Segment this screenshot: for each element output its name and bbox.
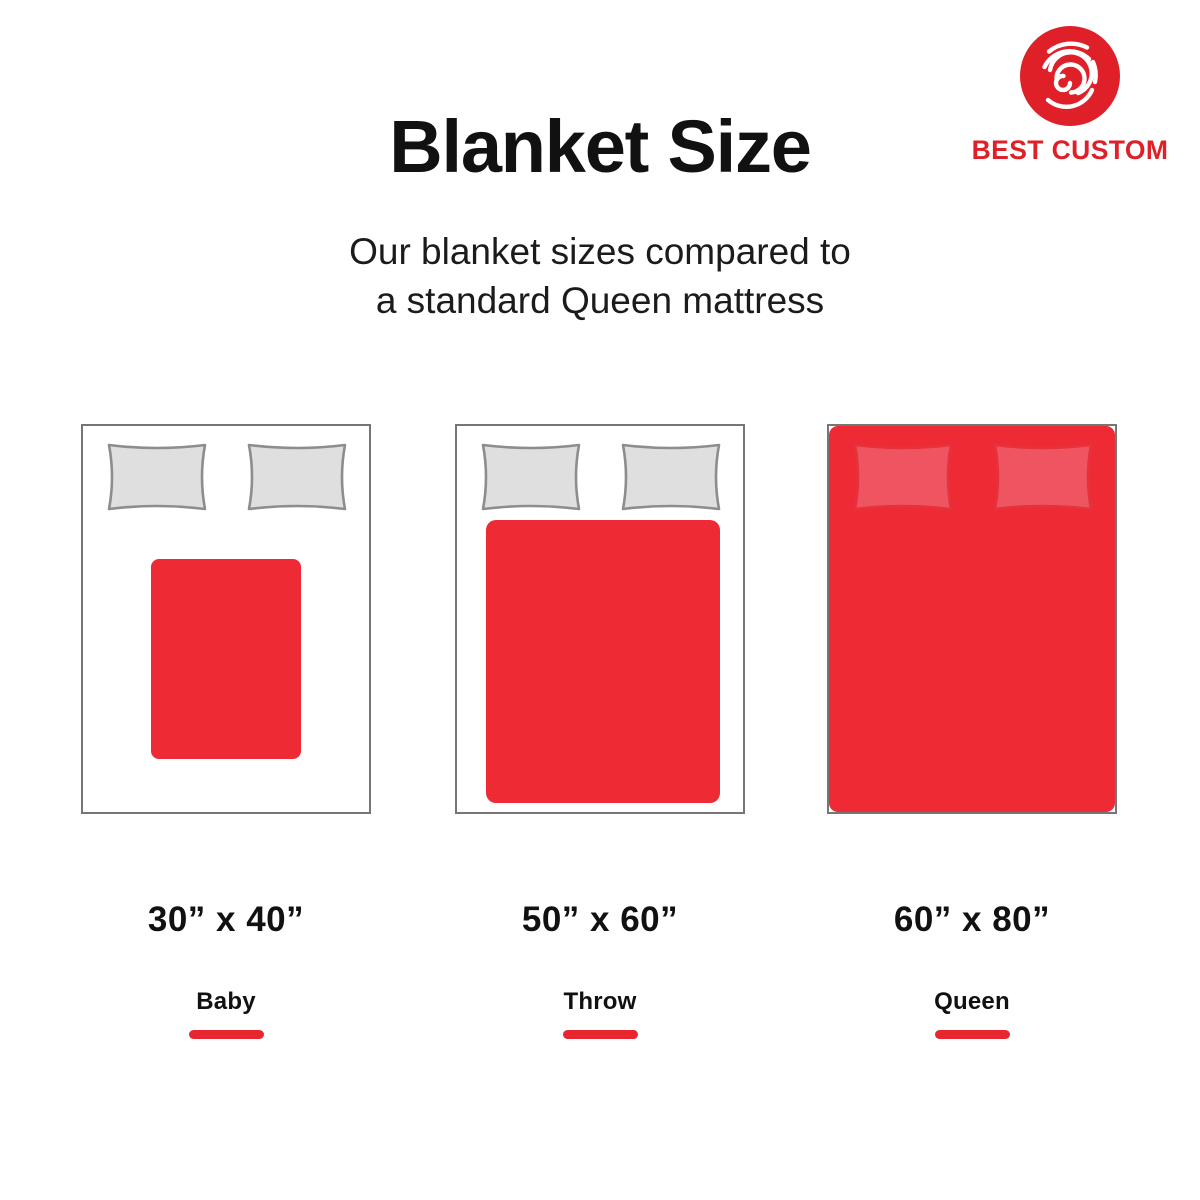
subtitle-line-1: Our blanket sizes compared to [0, 228, 1200, 277]
blanket-shape-throw [486, 520, 720, 803]
caption-baby: 30” x 40” Baby [56, 900, 396, 1039]
caption-queen: 60” x 80” Queen [802, 900, 1142, 1039]
blanket-shape-baby [151, 559, 301, 759]
subtitle-line-2: a standard Queen mattress [0, 277, 1200, 326]
pillow-icon [244, 441, 350, 513]
accent-underline [563, 1030, 638, 1039]
pillow-icon [478, 441, 584, 513]
accent-underline [189, 1030, 264, 1039]
bed-diagram-queen [827, 424, 1117, 814]
bed-diagram-throw [455, 424, 745, 814]
pillow-icon [104, 441, 210, 513]
pillow-icon [850, 441, 956, 513]
caption-throw: 50” x 60” Throw [430, 900, 770, 1039]
blanket-name: Baby [56, 988, 396, 1016]
bed-diagram-baby [81, 424, 371, 814]
blanket-dimensions: 50” x 60” [430, 900, 770, 940]
pillow-icon [990, 441, 1096, 513]
bed-diagram-group [0, 424, 1200, 816]
page-title: Blanket Size [0, 108, 1200, 186]
blanket-dimensions: 30” x 40” [56, 900, 396, 940]
blanket-name: Queen [802, 988, 1142, 1016]
page-subtitle: Our blanket sizes compared to a standard… [0, 228, 1200, 326]
blanket-size-infographic: BEST CUSTOM Blanket Size Our blanket siz… [0, 0, 1200, 1200]
blanket-dimensions: 60” x 80” [802, 900, 1142, 940]
caption-group: 30” x 40” Baby 50” x 60” Throw 60” x 80”… [0, 900, 1200, 1050]
pillow-icon [618, 441, 724, 513]
accent-underline [935, 1030, 1010, 1039]
blanket-name: Throw [430, 988, 770, 1016]
